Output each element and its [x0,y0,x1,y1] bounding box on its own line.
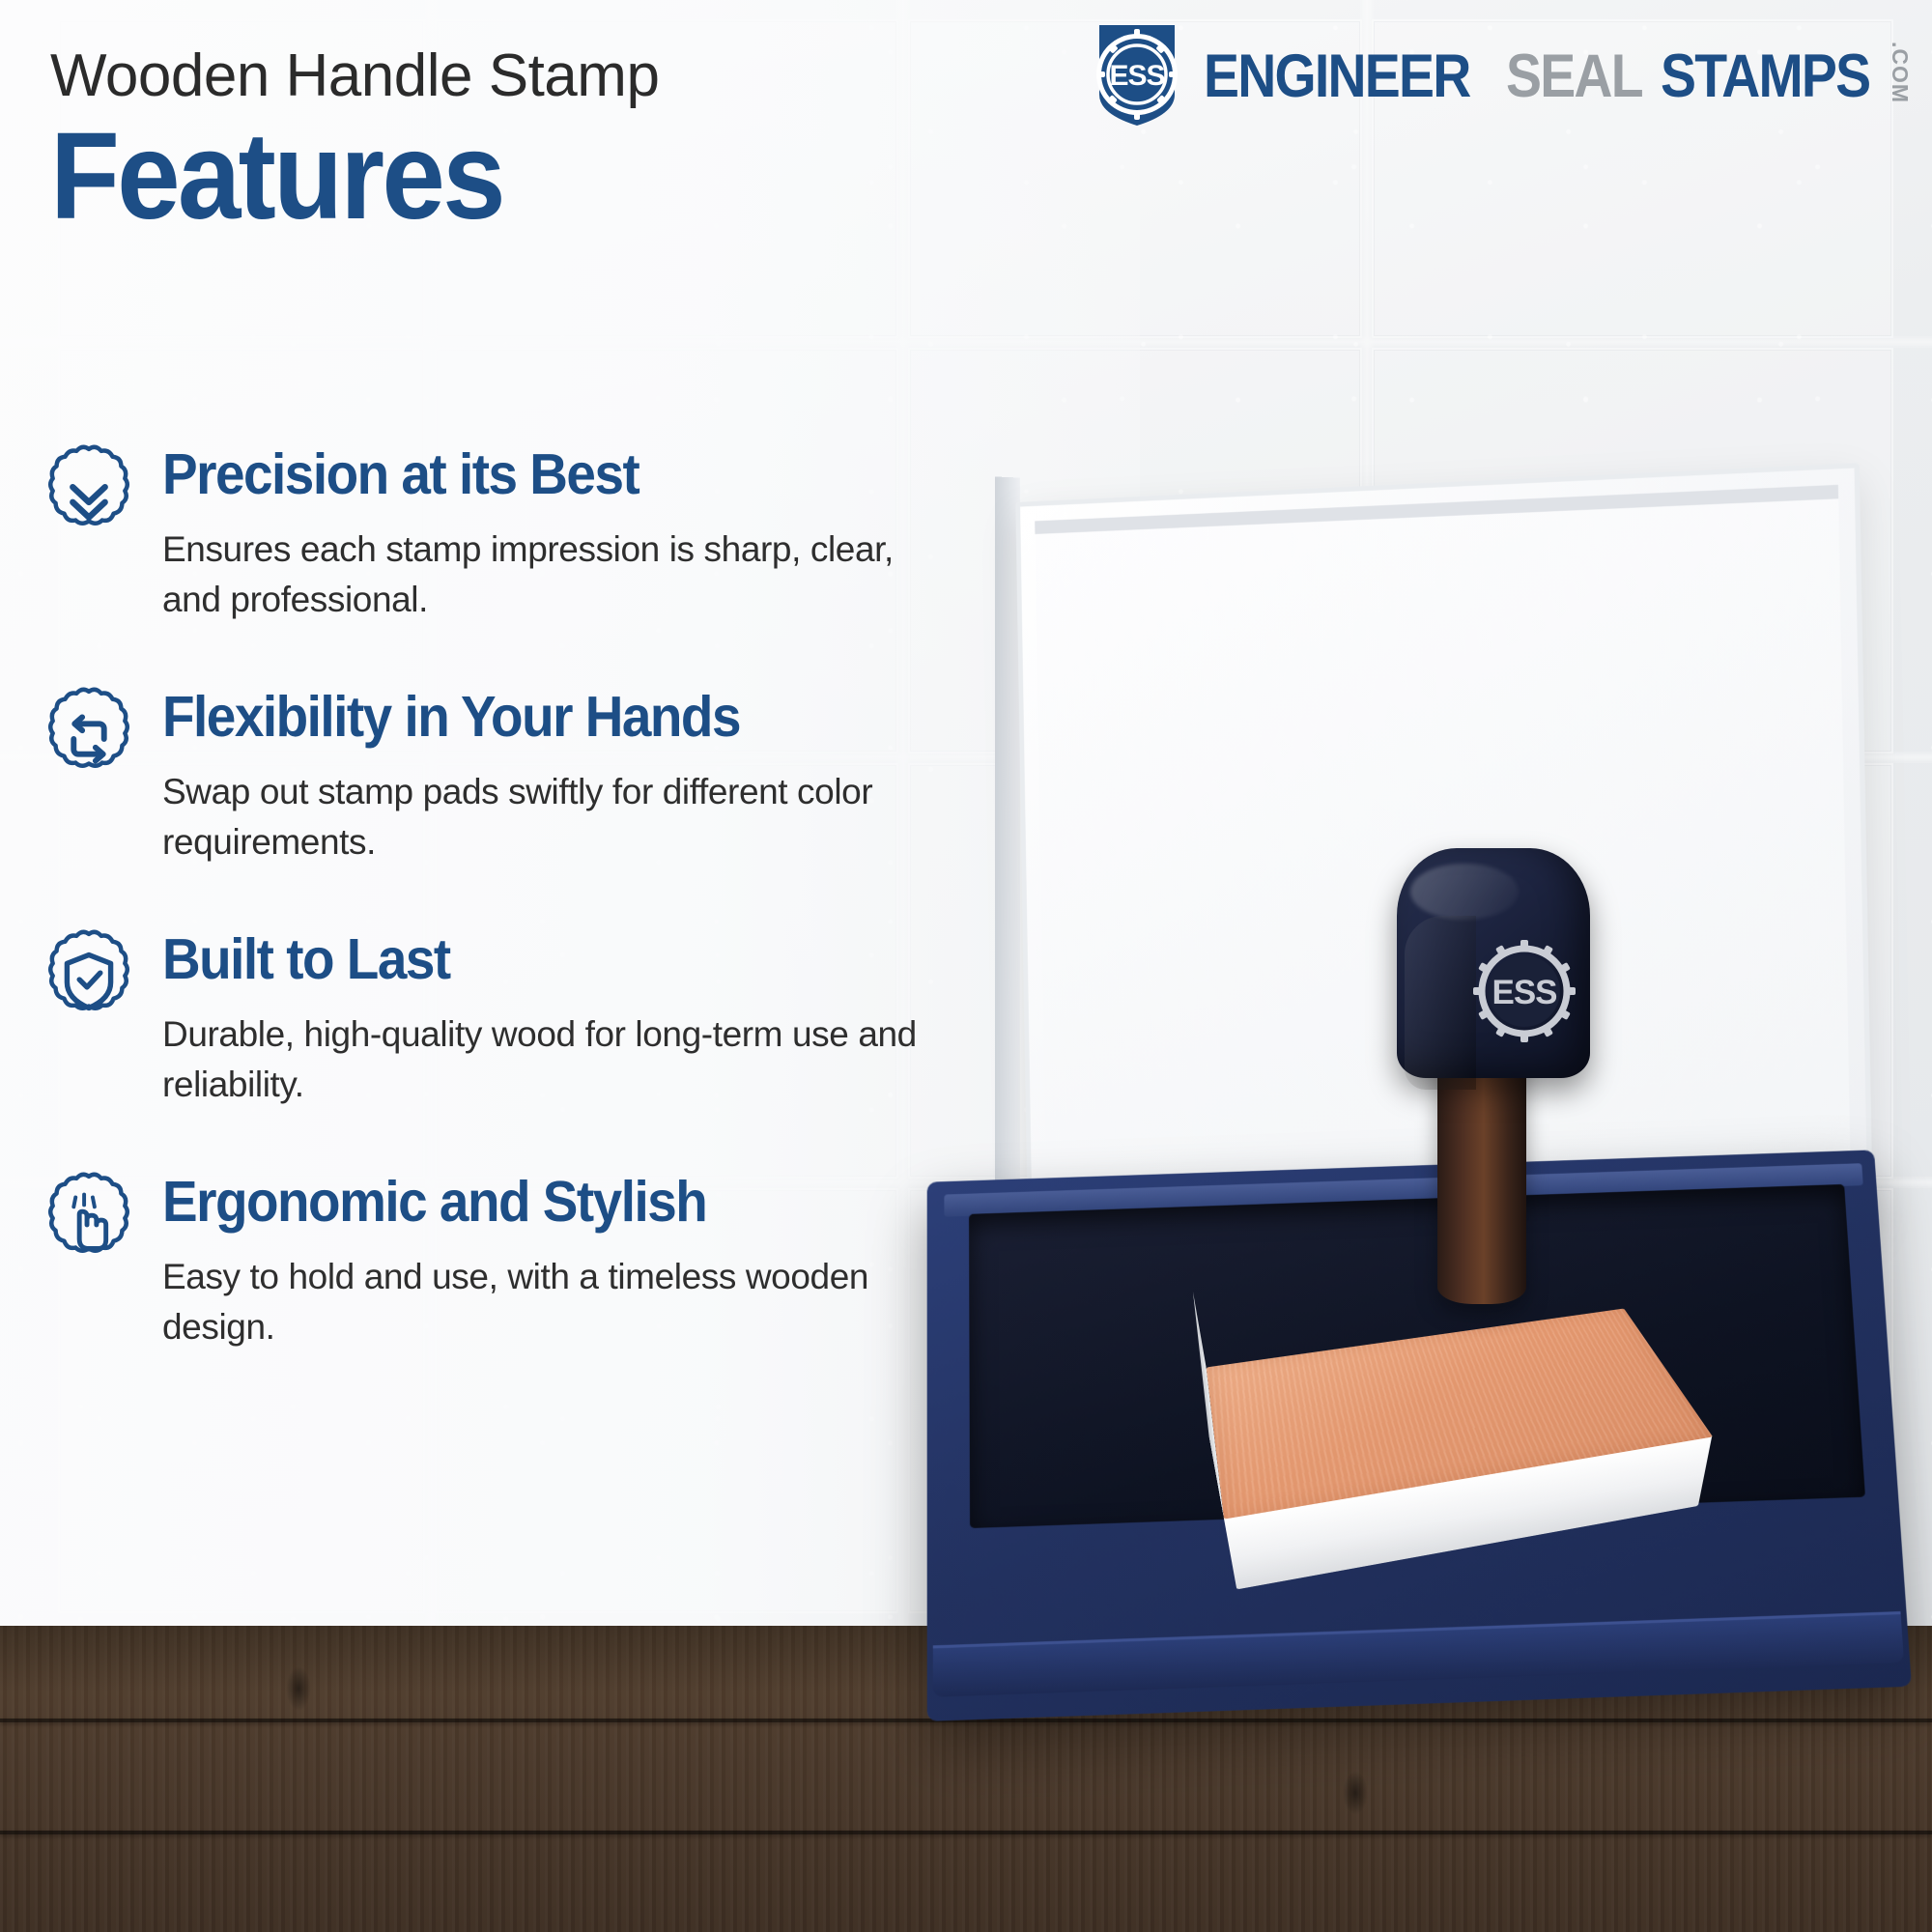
ess-gear-emblem-icon: ESS [1470,937,1578,1045]
feature-item: Built to Last Durable, high-quality wood… [37,924,1012,1111]
feature-item: Ergonomic and Stylish Easy to hold and u… [37,1167,1012,1353]
wordmark-seal: SEAL [1506,46,1642,107]
feature-description: Ensures each stamp impression is sharp, … [162,525,935,626]
feature-title: Built to Last [162,930,881,990]
stamp-handle-knob: ESS [1397,848,1590,1078]
double-chevron-down-badge-icon [37,443,141,548]
tap-hand-badge-icon [37,1171,141,1275]
wooden-handle-stamp: ESS [1217,802,1816,1517]
floor-knot [286,1666,311,1711]
feature-item: Precision at its Best Ensures each stamp… [37,440,1012,626]
feature-list: Precision at its Best Ensures each stamp… [37,440,1012,1409]
page-title: Features [50,115,1028,239]
feature-text: Flexibility in Your Hands Swap out stamp… [141,682,935,868]
header-title-block: Wooden Handle Stamp Features [50,44,1113,239]
feature-text: Ergonomic and Stylish Easy to hold and u… [141,1167,935,1353]
floor-knot [1343,1771,1368,1815]
feature-text: Precision at its Best Ensures each stamp… [141,440,935,626]
feature-title: Precision at its Best [162,445,881,505]
feature-item: Flexibility in Your Hands Swap out stamp… [37,682,1012,868]
wordmark-engineer: ENGINEER [1204,46,1469,107]
knob-emblem-text: ESS [1492,974,1556,1011]
swap-arrows-badge-icon [37,686,141,790]
stamp-wood-base [1207,1309,1714,1520]
brand-wordmark: ENGINEER SEAL STAMPS .COM [1204,42,1911,106]
knob-highlight [1410,864,1519,920]
feature-text: Built to Last Durable, high-quality wood… [141,924,935,1111]
feature-description: Easy to hold and use, with a timeless wo… [162,1252,935,1353]
box-front-lip [933,1611,1904,1697]
wordmark-tld: .COM [1889,42,1911,103]
brand-logo[interactable]: ESS ENGINEER SEAL STAMPS .COM [1084,21,1911,128]
infographic-canvas: Wooden Handle Stamp Features ESS [0,0,1932,1932]
feature-title: Flexibility in Your Hands [162,688,881,748]
wordmark-stamps: STAMPS [1661,46,1869,107]
svg-text:ESS: ESS [1110,60,1165,92]
feature-description: Swap out stamp pads swiftly for differen… [162,767,935,868]
knob-facet [1405,916,1476,1090]
page-subtitle: Wooden Handle Stamp [50,44,1113,107]
product-photo: ESS [927,483,1932,1739]
feature-description: Durable, high-quality wood for long-term… [162,1009,935,1111]
feature-title: Ergonomic and Stylish [162,1173,881,1233]
ess-gear-badge-icon: ESS [1084,21,1190,128]
floor-plank-seam [0,1831,1932,1834]
shield-check-badge-icon [37,928,141,1033]
